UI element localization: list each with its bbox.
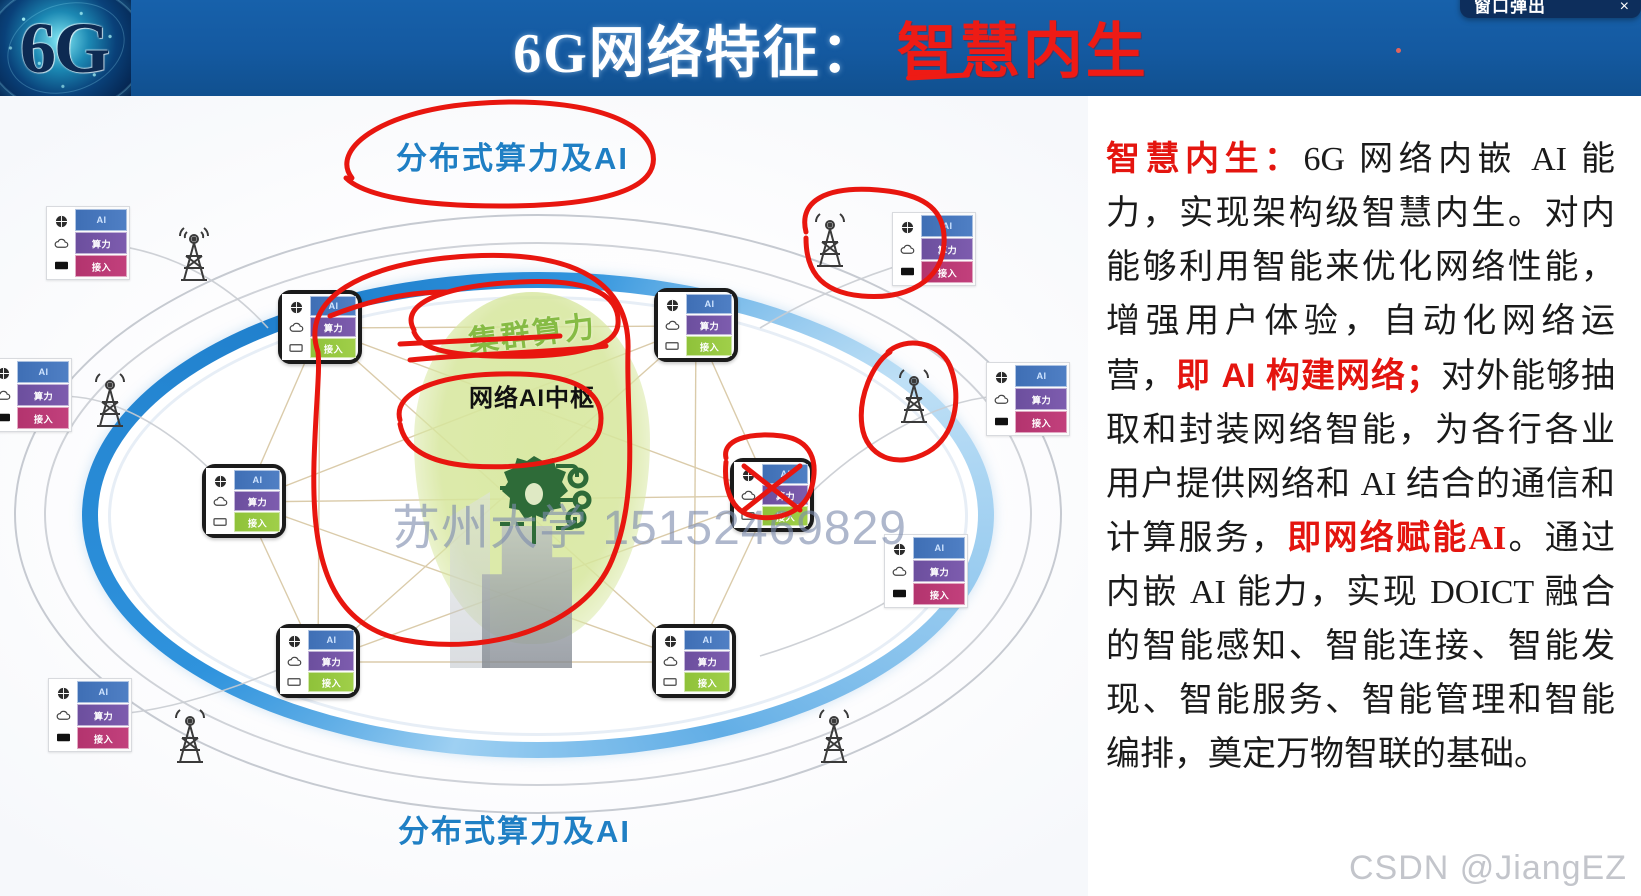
cell-tower-icon	[892, 364, 936, 426]
node-row-ai: AI	[684, 630, 730, 650]
node-icon-column	[893, 213, 921, 285]
node-card[interactable]: AI 算力 接入	[0, 358, 72, 432]
device-icon	[741, 509, 756, 522]
node-card[interactable]: AI 算力 接入	[48, 678, 132, 752]
logo-text: 6G	[0, 8, 131, 88]
node-row-access: 接入	[310, 338, 356, 358]
cloud-icon	[663, 655, 678, 668]
device-icon	[287, 675, 302, 688]
description-emphasis-2: 即网络赋能AI	[1287, 520, 1506, 557]
node-row-access: 接入	[75, 255, 127, 277]
globe-icon	[663, 635, 678, 648]
node-row-access: 接入	[1015, 411, 1067, 433]
device-icon	[213, 515, 228, 528]
node-icon-column	[658, 292, 686, 358]
node-icon-column	[280, 628, 308, 694]
node-row-ai: AI	[77, 681, 129, 703]
node-row-ai: AI	[75, 209, 127, 231]
cloud-icon	[892, 565, 907, 578]
globe-icon	[289, 301, 304, 314]
cloud-icon	[665, 319, 680, 332]
cloud-icon	[994, 393, 1009, 406]
globe-icon	[900, 221, 915, 234]
globe-icon	[665, 299, 680, 312]
cloud-icon	[54, 237, 69, 250]
node-row-ai: AI	[921, 215, 973, 237]
network-architecture-diagram: 集群算力 网络AI中枢	[0, 96, 1088, 896]
node-row-column: AI 算力 接入	[913, 535, 967, 607]
node-icon-column	[885, 535, 913, 607]
node-row-access: 接入	[17, 407, 69, 429]
device-icon	[289, 341, 304, 354]
node-icon-column	[282, 294, 310, 360]
device-icon	[0, 411, 11, 424]
node-card[interactable]: AI 算力 接入	[884, 534, 968, 608]
title-main-text: 6G网络特征：	[513, 8, 879, 89]
node-card[interactable]: AI 算力 接入	[46, 206, 130, 280]
cloud-icon	[900, 243, 915, 256]
node-row-column: AI 算力 接入	[234, 468, 282, 534]
node-row-access: 接入	[686, 336, 732, 356]
cell-tower-icon	[168, 704, 212, 766]
node-row-column: AI 算力 接入	[686, 292, 734, 358]
description-lead: 智慧内生：	[1106, 140, 1304, 178]
ai-gear-chip-icon	[470, 448, 598, 560]
node-card[interactable]: AI 算力 接入	[202, 464, 286, 538]
node-row-access: 接入	[234, 512, 280, 532]
node-row-compute: 算力	[310, 317, 356, 337]
node-row-column: AI 算力 接入	[1015, 363, 1069, 435]
window-popup-chip[interactable]: 窗口弹出 ×	[1460, 0, 1641, 18]
description-part3: 。通过内嵌 AI 能力，实现 DOICT 融合的智能感知、智能连接、智能发现、智…	[1106, 520, 1615, 773]
description-panel: 智慧内生：6G 网络内嵌 AI 能力，实现架构级智慧内生。对内能够利用智能来优化…	[1088, 96, 1641, 896]
node-icon-column	[206, 468, 234, 534]
device-icon	[663, 675, 678, 688]
node-row-compute: 算力	[77, 704, 129, 726]
node-row-column: AI 算力 接入	[75, 207, 129, 279]
device-icon	[56, 731, 71, 744]
node-icon-column	[0, 359, 17, 431]
description-paragraph: 智慧内生：6G 网络内嵌 AI 能力，实现架构级智慧内生。对内能够利用智能来优化…	[1106, 132, 1615, 782]
cloud-icon	[0, 389, 11, 402]
node-row-compute: 算力	[234, 491, 280, 511]
globe-icon	[287, 635, 302, 648]
node-row-compute: 算力	[684, 651, 730, 671]
node-card[interactable]: AI 算力 接入	[730, 458, 814, 532]
node-row-access: 接入	[684, 672, 730, 692]
node-row-column: AI 算力 接入	[921, 213, 975, 285]
node-row-compute: 算力	[308, 651, 354, 671]
device-icon	[900, 265, 915, 278]
node-icon-column	[734, 462, 762, 528]
globe-icon	[994, 371, 1009, 384]
node-row-ai: AI	[686, 294, 732, 314]
device-icon	[665, 339, 680, 352]
screenshot-root: 6G 6G网络特征： 智慧内生 窗口弹出 ×	[0, 0, 1641, 896]
node-row-ai: AI	[308, 630, 354, 650]
core-hub-label: 网络AI中枢	[420, 378, 644, 412]
page-title: 6G网络特征： 智慧内生	[131, 0, 1641, 96]
device-icon	[892, 587, 907, 600]
node-card[interactable]: AI 算力 接入	[652, 624, 736, 698]
node-row-compute: 算力	[17, 384, 69, 406]
globe-icon	[892, 543, 907, 556]
globe-icon	[741, 469, 756, 482]
node-row-compute: 算力	[913, 560, 965, 582]
node-row-compute: 算力	[1015, 388, 1067, 410]
node-card[interactable]: AI 算力 接入	[986, 362, 1070, 436]
node-row-access: 接入	[762, 506, 808, 526]
node-card[interactable]: AI 算力 接入	[276, 624, 360, 698]
node-row-ai: AI	[310, 296, 356, 316]
node-row-compute: 算力	[921, 238, 973, 260]
node-row-column: AI 算力 接入	[308, 628, 356, 694]
globe-icon	[56, 687, 71, 700]
device-icon	[994, 415, 1009, 428]
node-row-compute: 算力	[75, 232, 127, 254]
node-row-ai: AI	[762, 464, 808, 484]
node-row-ai: AI	[234, 470, 280, 490]
globe-icon	[0, 367, 11, 380]
node-row-compute: 算力	[686, 315, 732, 335]
globe-icon	[213, 475, 228, 488]
6g-logo: 6G	[0, 0, 131, 96]
cloud-icon	[741, 489, 756, 502]
device-icon	[54, 259, 69, 272]
cell-tower-icon	[808, 208, 852, 270]
node-card[interactable]: AI 算力 接入	[654, 288, 738, 362]
node-row-ai: AI	[913, 537, 965, 559]
cloud-icon	[56, 709, 71, 722]
diagram-bottom-label: 分布式算力及AI	[398, 806, 631, 851]
node-row-column: AI 算力 接入	[77, 679, 131, 751]
node-card[interactable]: AI 算力 接入	[892, 212, 976, 286]
cloud-icon	[213, 495, 228, 508]
node-row-ai: AI	[1015, 365, 1067, 387]
description-emphasis-1: 即 AI 构建网络；	[1176, 357, 1440, 395]
node-row-ai: AI	[17, 361, 69, 383]
node-icon-column	[656, 628, 684, 694]
popup-chip-label: 窗口弹出	[1474, 0, 1546, 15]
slide-header: 6G 6G网络特征： 智慧内生	[0, 0, 1641, 96]
node-row-column: AI 算力 接入	[17, 359, 71, 431]
node-row-access: 接入	[77, 727, 129, 749]
cloud-icon	[289, 321, 304, 334]
node-row-access: 接入	[308, 672, 354, 692]
node-row-column: AI 算力 接入	[310, 294, 358, 360]
cell-tower-icon	[812, 704, 856, 766]
node-row-access: 接入	[921, 261, 973, 283]
cell-tower-icon	[88, 368, 132, 430]
csdn-watermark: CSDN @JiangEZ	[1349, 849, 1627, 888]
node-card[interactable]: AI 算力 接入	[278, 290, 362, 364]
close-icon[interactable]: ×	[1620, 0, 1629, 15]
node-row-column: AI 算力 接入	[684, 628, 732, 694]
node-row-access: 接入	[913, 583, 965, 605]
diagram-top-label: 分布式算力及AI	[396, 133, 629, 178]
cell-tower-icon	[172, 222, 216, 284]
node-icon-column	[987, 363, 1015, 435]
node-row-column: AI 算力 接入	[762, 462, 810, 528]
node-row-compute: 算力	[762, 485, 808, 505]
cloud-icon	[287, 655, 302, 668]
node-icon-column	[47, 207, 75, 279]
node-icon-column	[49, 679, 77, 751]
globe-icon	[54, 215, 69, 228]
header-dot-mark	[1396, 48, 1401, 53]
